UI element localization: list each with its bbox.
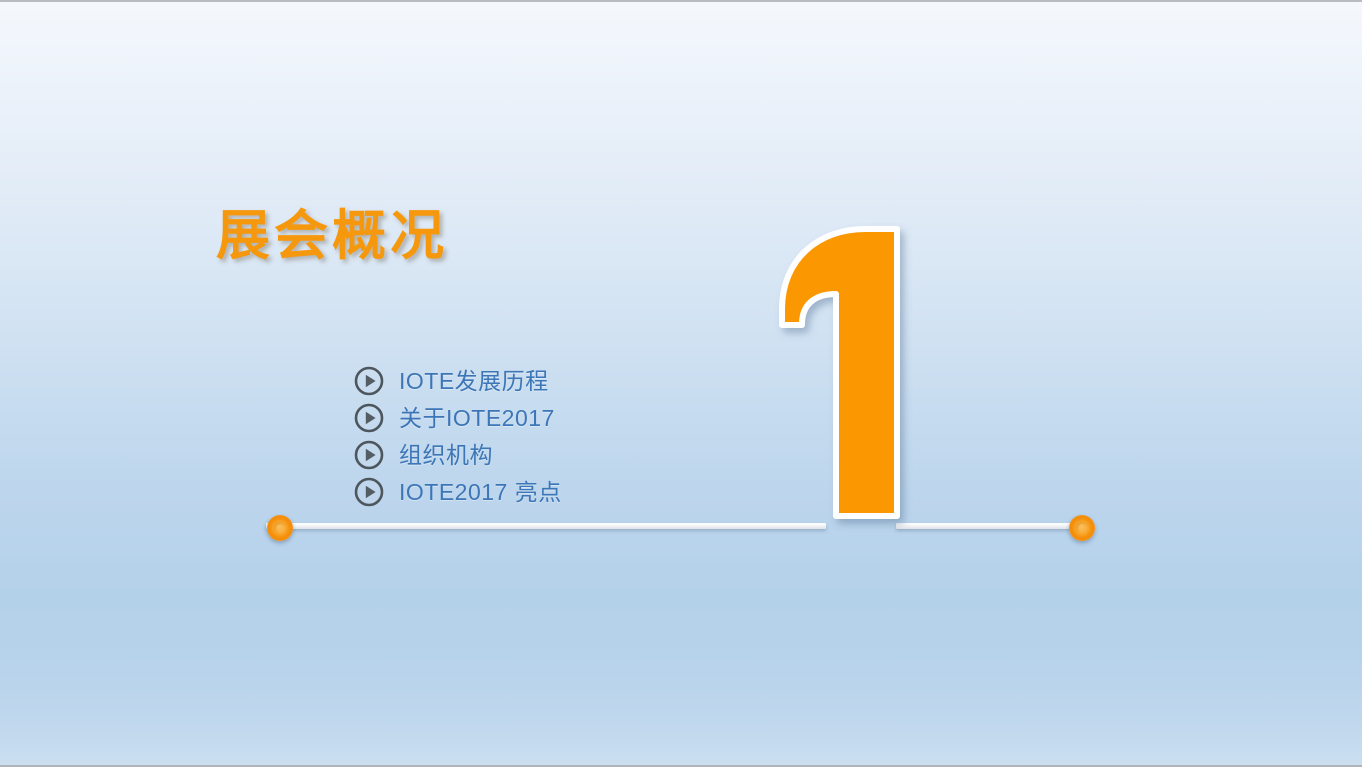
list-item[interactable]: IOTE发展历程: [354, 366, 774, 396]
play-circle-icon: [354, 440, 384, 470]
section-number: [757, 224, 947, 539]
play-circle-icon: [354, 477, 384, 507]
play-circle-icon: [354, 366, 384, 396]
list-item-label: 组织机构: [399, 444, 493, 467]
list-item-label: IOTE发展历程: [399, 370, 549, 393]
divider-cap-left: [267, 515, 293, 541]
numeral-one-icon: [757, 224, 947, 539]
list-item-label: 关于IOTE2017: [399, 407, 555, 430]
list-item[interactable]: IOTE2017 亮点: [354, 477, 774, 507]
play-circle-icon: [354, 403, 384, 433]
list-item[interactable]: 关于IOTE2017: [354, 403, 774, 433]
divider-segment-left: [266, 523, 826, 529]
divider-cap-right: [1069, 515, 1095, 541]
presentation-slide: 展会概况 IOTE发展历程 关于IOTE2017: [0, 0, 1362, 767]
slide-title: 展会概况: [216, 205, 448, 267]
list-item-label: IOTE2017 亮点: [399, 481, 562, 504]
list-item[interactable]: 组织机构: [354, 440, 774, 470]
agenda-list: IOTE发展历程 关于IOTE2017 组织机构 I: [354, 366, 774, 514]
divider: [266, 515, 1084, 535]
